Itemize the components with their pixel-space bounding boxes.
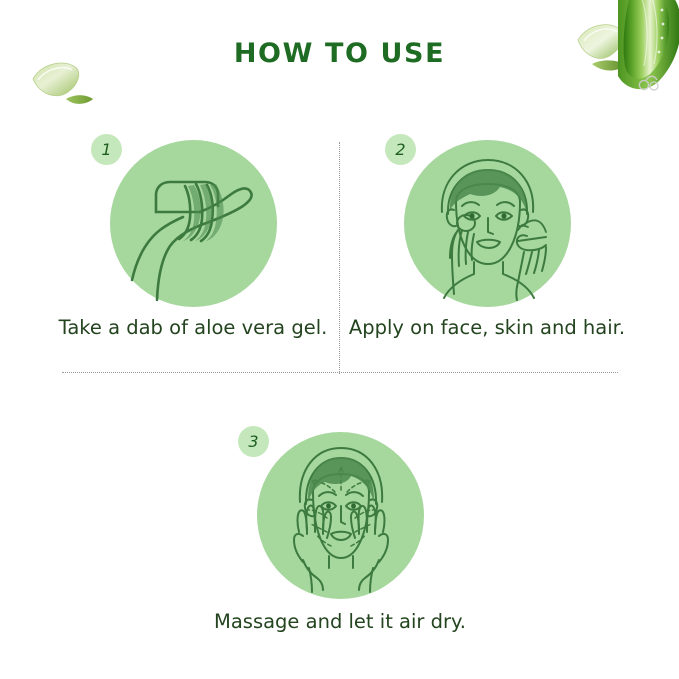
step-2-badge: 2 [385,134,416,165]
step-2: 2 Apply on face, skin and hair. [337,134,637,309]
step-3-badge: 3 [238,426,269,457]
how-to-use-page: HOW TO USE [0,0,679,679]
step-3: 3 Massage and let it air dry. [190,426,490,601]
hand-with-gel-icon [110,140,277,307]
step-1: 1 Take a dab of aloe vera gel. [43,134,343,309]
woman-massaging-face-icon [257,432,424,599]
step-1-caption: Take a dab of aloe vera gel. [43,316,343,339]
step-1-figure: 1 [43,134,343,309]
step-1-badge: 1 [91,134,122,165]
page-title: HOW TO USE [0,38,679,69]
step-2-figure: 2 [337,134,637,309]
step-3-caption: Massage and let it air dry. [190,610,490,633]
step-3-figure: 3 [190,426,490,601]
woman-applying-gel-icon [404,140,571,307]
divider-horizontal [62,372,618,373]
step-2-caption: Apply on face, skin and hair. [337,316,637,339]
